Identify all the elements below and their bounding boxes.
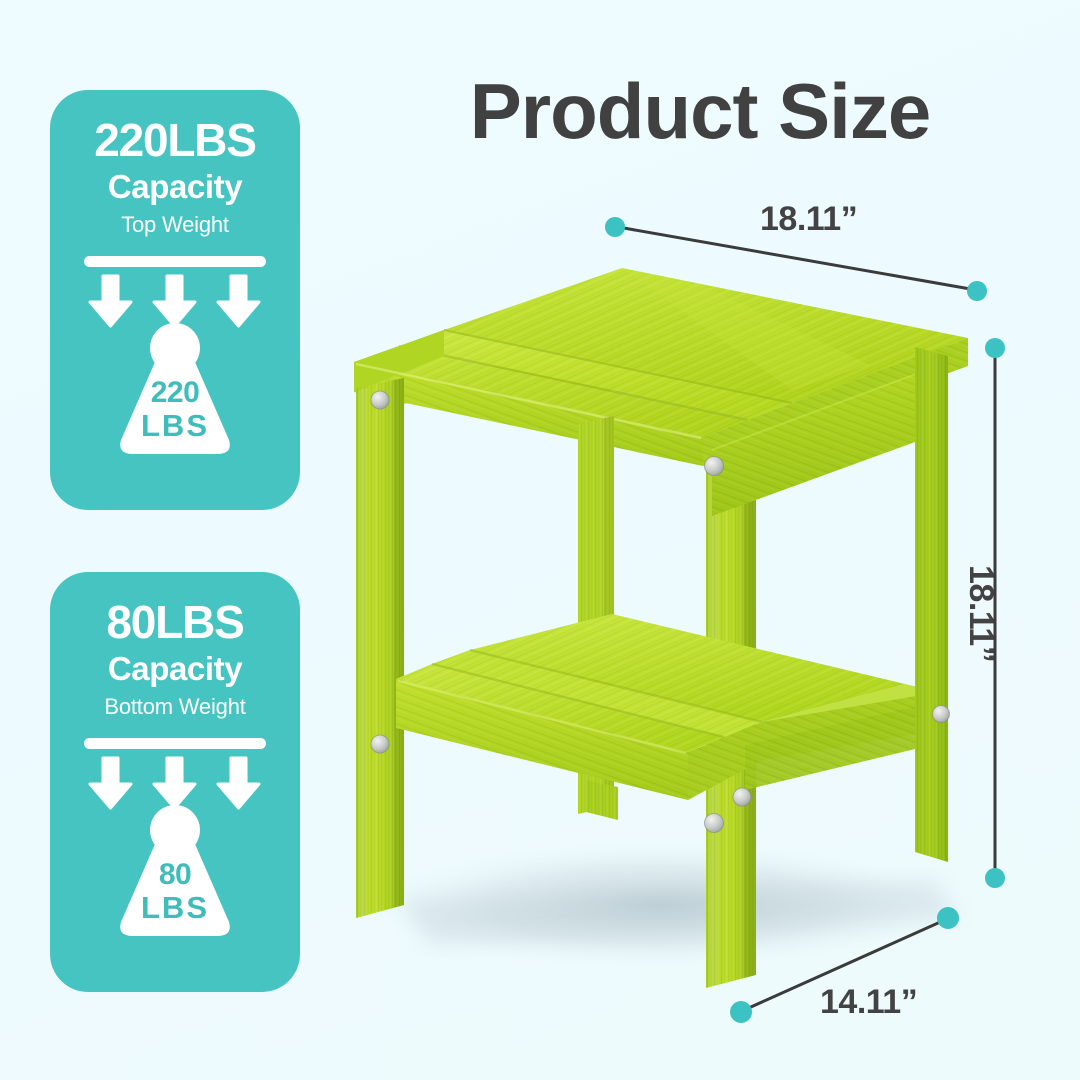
load-surface-bar bbox=[84, 738, 266, 749]
badge-graphic-top: 220 LBS bbox=[50, 252, 300, 467]
table-leg-back-right-face bbox=[915, 347, 948, 862]
dimension-label-height: 18.11” bbox=[961, 565, 1000, 662]
badge-note: Bottom Weight bbox=[50, 694, 300, 720]
weight-kettlebell-icon: 80 LBS bbox=[107, 804, 243, 944]
weight-kettlebell-icon: 220 LBS bbox=[107, 322, 243, 462]
badge-subtitle: Capacity bbox=[50, 650, 300, 688]
infographic-canvas: Product Size 18.11” 18.11” 14.11” 220LBS… bbox=[0, 0, 1080, 1080]
weight-value: 220 bbox=[107, 376, 243, 410]
badge-headline: 80LBS bbox=[50, 598, 300, 648]
weight-unit: LBS bbox=[107, 408, 243, 444]
screw-icon bbox=[933, 706, 950, 723]
screw-icon bbox=[705, 457, 724, 476]
table-leg-front-left bbox=[356, 378, 404, 918]
badge-headline: 220LBS bbox=[50, 116, 300, 166]
badge-note: Top Weight bbox=[50, 212, 300, 238]
dimension-label-width: 18.11” bbox=[760, 200, 857, 239]
screw-icon bbox=[371, 391, 389, 409]
screw-icon bbox=[733, 788, 751, 806]
product-shadow bbox=[380, 843, 960, 967]
weight-value: 80 bbox=[107, 858, 243, 892]
weight-unit: LBS bbox=[107, 890, 243, 926]
capacity-badge-top-weight: 220LBS Capacity Top Weight 220 LBS bbox=[50, 90, 300, 510]
dimension-label-depth: 14.11” bbox=[820, 983, 917, 1022]
capacity-badge-bottom-weight: 80LBS Capacity Bottom Weight 80 LBS bbox=[50, 572, 300, 992]
screw-icon bbox=[705, 814, 724, 833]
page-title: Product Size bbox=[400, 72, 1000, 150]
load-surface-bar bbox=[84, 256, 266, 267]
table-bottom-shelf bbox=[396, 614, 940, 820]
screw-icon bbox=[371, 735, 389, 753]
badge-subtitle: Capacity bbox=[50, 168, 300, 206]
badge-graphic-bottom: 80 LBS bbox=[50, 734, 300, 949]
